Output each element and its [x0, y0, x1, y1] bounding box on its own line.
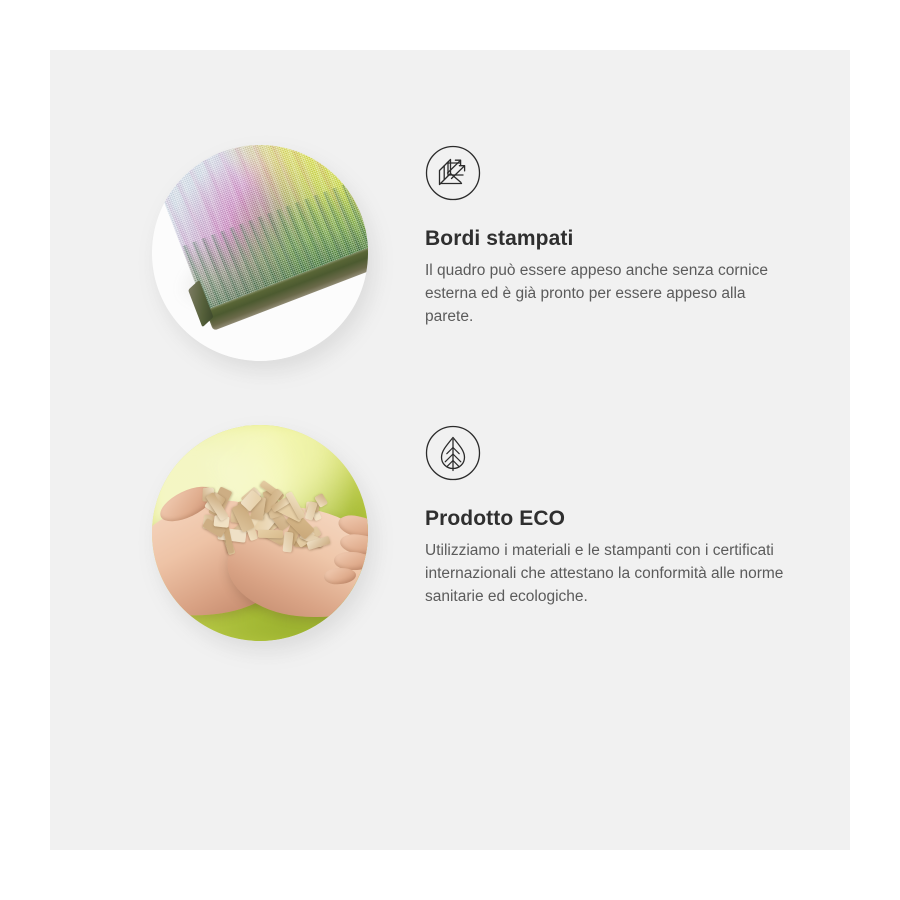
content-panel: Bordi stampati Il quadro può essere appe…: [50, 50, 850, 850]
wood-chip: [282, 532, 292, 552]
product-info-page: Bordi stampati Il quadro può essere appe…: [0, 0, 900, 900]
printed-edges-icon: [425, 145, 481, 201]
feature-title: Bordi stampati: [425, 226, 820, 251]
feature-text-column: Bordi stampati Il quadro può essere appe…: [425, 145, 820, 329]
feature-description: Utilizziamo i materiali e le stampanti c…: [425, 540, 790, 608]
photo-circle-frame: [152, 425, 368, 641]
photo-circle-frame: [152, 145, 368, 361]
canvas-corner-photo: [152, 145, 368, 361]
wood-chips-hands-photo: [152, 425, 368, 641]
feature-title: Prodotto ECO: [425, 506, 820, 531]
feature-text-column: Prodotto ECO Utilizziamo i materiali e l…: [425, 425, 820, 609]
leaf-icon: [425, 425, 481, 481]
wood-chip-pile: [200, 487, 330, 555]
eco-scene: [152, 425, 368, 641]
feature-description: Il quadro può essere appeso anche senza …: [425, 260, 790, 328]
canvas-scene: [152, 145, 368, 361]
wood-chip: [258, 530, 283, 538]
